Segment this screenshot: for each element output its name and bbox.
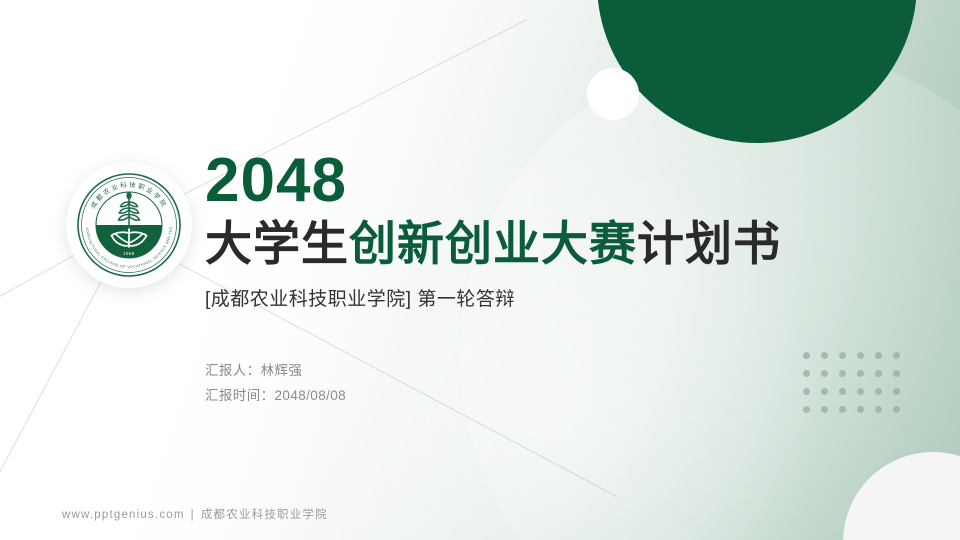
- headline-emphasis: 创新创业大赛: [349, 217, 637, 270]
- university-emblem: 成都农业科技职业学院 CHENGDU AGRICULTURAL COLLEGE …: [66, 162, 192, 288]
- footer: www.pptgenius.com|成都农业科技职业学院: [62, 506, 328, 522]
- year-heading: 2048: [205, 150, 905, 212]
- footer-organization: 成都农业科技职业学院: [201, 509, 328, 521]
- page-title: 大学生创新创业大赛计划书: [205, 218, 905, 271]
- footer-separator: |: [191, 509, 195, 521]
- title-content: 2048 大学生创新创业大赛计划书 [成都农业科技职业学院] 第一轮答辩 汇报人…: [205, 150, 905, 409]
- headline-tail: 计划书: [637, 217, 781, 270]
- presenter-line: 汇报人：林辉强: [205, 359, 905, 384]
- presentation-meta: 汇报人：林辉强 汇报时间：2048/08/08: [205, 359, 905, 409]
- subtitle: [成都农业科技职业学院] 第一轮答辩: [205, 284, 905, 311]
- footer-site: www.pptgenius.com: [62, 509, 185, 521]
- date-line: 汇报时间：2048/08/08: [205, 384, 905, 409]
- headline-lead: 大学生: [205, 217, 349, 270]
- title-slide: 成都农业科技职业学院 CHENGDU AGRICULTURAL COLLEGE …: [0, 0, 960, 540]
- svg-text:1958: 1958: [123, 251, 135, 256]
- decor-white-dot-top-right: [587, 68, 639, 120]
